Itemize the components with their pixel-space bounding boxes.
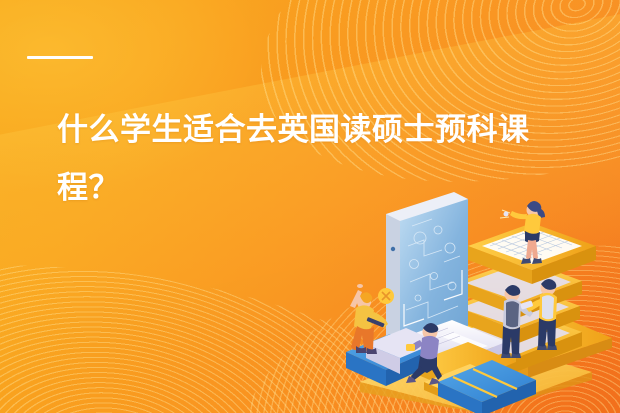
- coin-accent: [378, 288, 394, 304]
- accent-rule: [27, 56, 93, 59]
- illustration-students-with-books: [320, 186, 620, 413]
- promo-banner: 什么学生适合去英国读硕士预科课程？: [0, 0, 620, 413]
